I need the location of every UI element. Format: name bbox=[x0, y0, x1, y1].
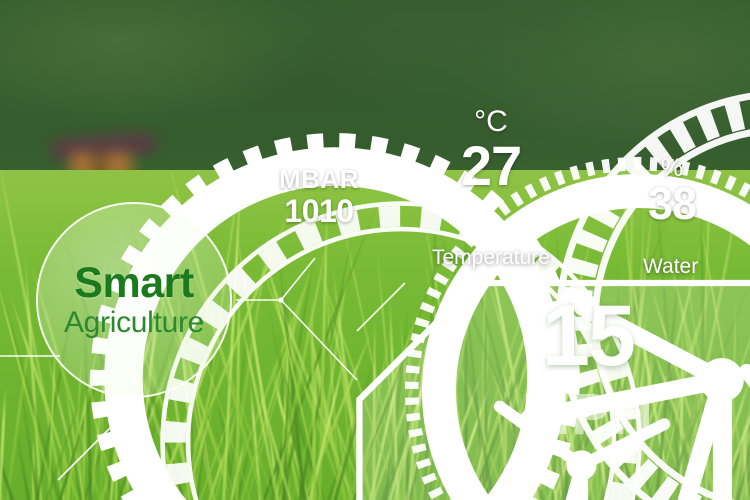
gauge-pressure-readout: MBAR 1010 bbox=[264, 141, 374, 251]
smart-agriculture-badge[interactable]: Smart Agriculture bbox=[26, 192, 242, 408]
gauge-temperature-caption: Temperature bbox=[432, 246, 550, 270]
smart-badge-glass bbox=[36, 202, 232, 398]
wind-speed-value: 15 bbox=[542, 297, 634, 376]
gauge-temperature-value: 27 bbox=[461, 138, 521, 194]
wind-speed-readout: 15 MPH bbox=[518, 297, 658, 441]
gauge-water-value: 38 bbox=[648, 181, 696, 226]
gauge-water-readout: % 38 bbox=[610, 129, 734, 253]
smart-agriculture-dashboard: Smart Agriculture MBAR 1010 bbox=[0, 0, 750, 500]
wind-speed-unit: MPH bbox=[522, 388, 654, 441]
gauge-temperature-unit: °C bbox=[474, 107, 508, 137]
gauge-temperature-readout: °C 27 bbox=[411, 70, 571, 230]
gauge-pressure-unit: MBAR bbox=[279, 166, 359, 192]
gauge-temperature[interactable]: °C 27 bbox=[411, 70, 571, 230]
gauge-water-caption: Water bbox=[643, 255, 698, 279]
gauge-pressure-value: 1010 bbox=[284, 195, 353, 227]
hud-overlay: Smart Agriculture MBAR 1010 bbox=[0, 0, 750, 500]
gauge-pressure[interactable]: MBAR 1010 bbox=[264, 141, 374, 251]
wind-speed-panel[interactable]: 15 MPH bbox=[357, 283, 664, 489]
gauge-water[interactable]: % 38 bbox=[610, 129, 734, 253]
